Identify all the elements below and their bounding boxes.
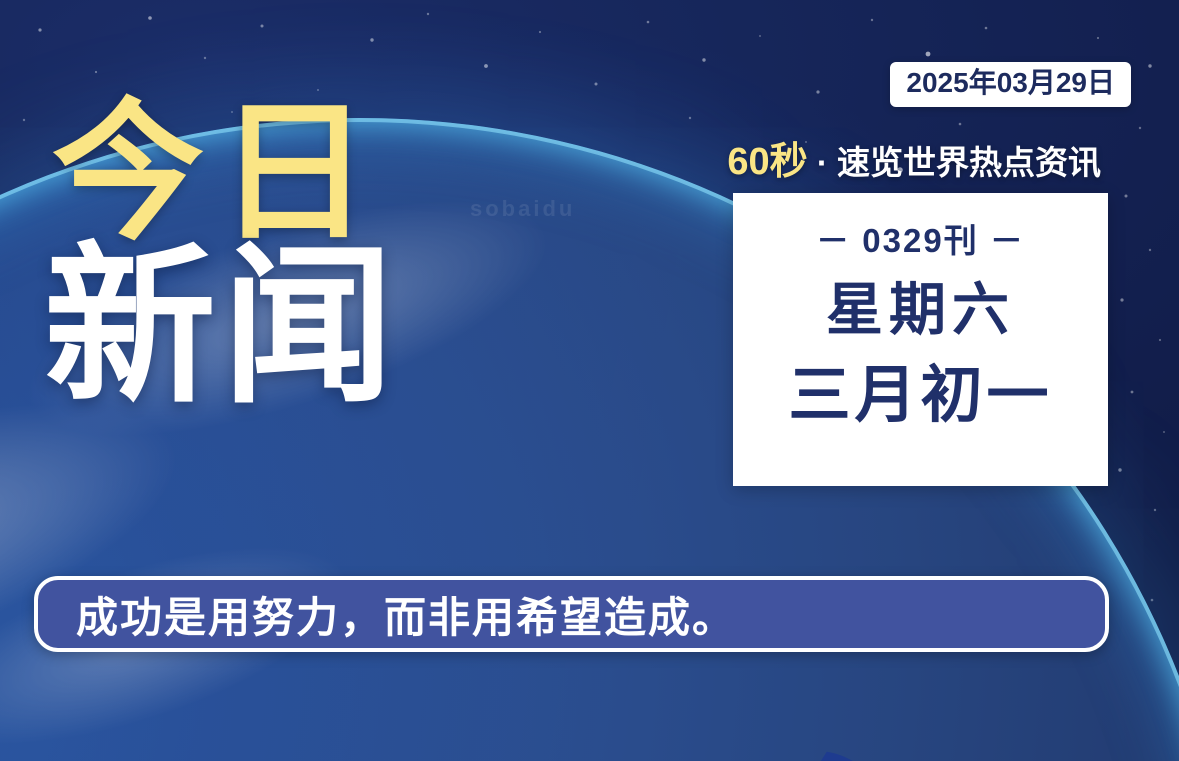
- info-card: － 0329刊 － 星期六 三月初一: [733, 193, 1108, 486]
- title-line-xinwen: 新闻: [44, 241, 400, 413]
- lunar-date-label: 三月初一: [788, 365, 1052, 427]
- tagline-description: · 速览世界热点资讯: [817, 144, 1101, 181]
- quote-text: 成功是用努力，而非用希望造成。: [38, 584, 736, 645]
- weekday-label: 星期六: [826, 282, 1015, 339]
- poster-title: 今日 新闻: [52, 96, 400, 413]
- quote-bar: 成功是用努力，而非用希望造成。: [34, 576, 1109, 652]
- news-poster: sobaidu 今日 新闻 2025年03月29日 60秒 · 速览世界热点资讯…: [0, 0, 1179, 761]
- watermark-text: sobaidu: [470, 196, 575, 222]
- date-badge: 2025年03月29日: [890, 62, 1131, 107]
- tagline: 60秒 · 速览世界热点资讯: [727, 140, 1101, 186]
- tagline-seconds: 60秒: [727, 141, 807, 183]
- title-line-jinri: 今日: [52, 96, 400, 251]
- issue-number: － 0329刊 －: [816, 214, 1025, 262]
